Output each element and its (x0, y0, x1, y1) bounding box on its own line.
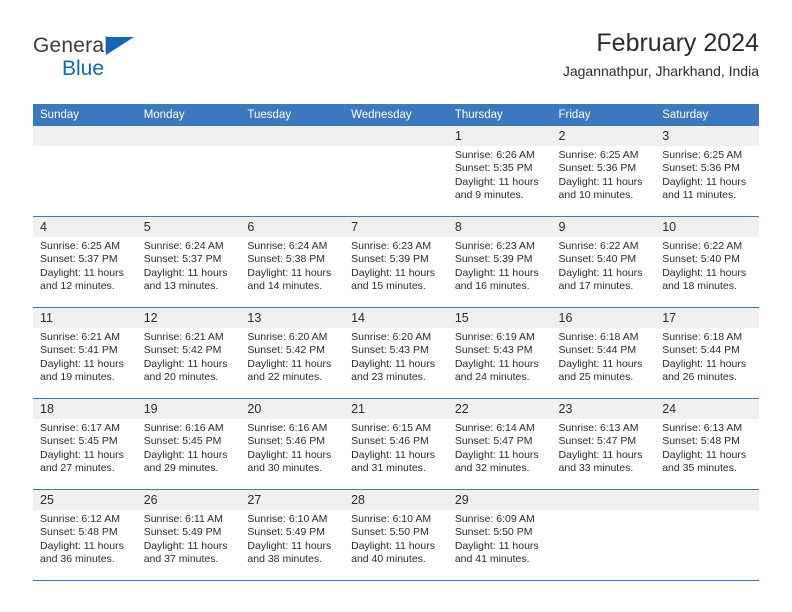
sunrise-time: Sunrise: 6:18 AM (662, 331, 753, 344)
daylight-duration-line1: Daylight: 11 hours (455, 449, 546, 462)
daylight-duration-line1: Daylight: 11 hours (662, 449, 753, 462)
calendar-day-cell[interactable]: 2Sunrise: 6:25 AMSunset: 5:36 PMDaylight… (552, 126, 656, 217)
day-cell-inner: 29Sunrise: 6:09 AMSunset: 5:50 PMDayligh… (448, 490, 552, 580)
sunset-time: Sunset: 5:37 PM (40, 253, 131, 266)
day-cell-inner: 25Sunrise: 6:12 AMSunset: 5:48 PMDayligh… (33, 490, 137, 580)
page-header: General Blue February 2024 Jagannathpur,… (33, 28, 759, 94)
sunset-time: Sunset: 5:50 PM (455, 526, 546, 539)
day-cell-inner: 2Sunrise: 6:25 AMSunset: 5:36 PMDaylight… (552, 126, 656, 216)
sunset-time: Sunset: 5:48 PM (662, 435, 753, 448)
day-cell-inner: 17Sunrise: 6:18 AMSunset: 5:44 PMDayligh… (655, 308, 759, 398)
calendar-day-cell[interactable]: 25Sunrise: 6:12 AMSunset: 5:48 PMDayligh… (33, 490, 137, 581)
day-sun-info: Sunrise: 6:15 AMSunset: 5:46 PMDaylight:… (344, 419, 448, 475)
daylight-duration-line2: and 33 minutes. (559, 462, 650, 475)
sunset-time: Sunset: 5:48 PM (40, 526, 131, 539)
daylight-duration-line2: and 35 minutes. (662, 462, 753, 475)
day-cell-inner (344, 126, 448, 216)
sunset-time: Sunset: 5:43 PM (351, 344, 442, 357)
sunset-time: Sunset: 5:45 PM (144, 435, 235, 448)
day-sun-info: Sunrise: 6:21 AMSunset: 5:41 PMDaylight:… (33, 328, 137, 384)
daylight-duration-line2: and 10 minutes. (559, 189, 650, 202)
calendar-day-cell[interactable]: 17Sunrise: 6:18 AMSunset: 5:44 PMDayligh… (655, 308, 759, 399)
calendar-cell-empty (240, 126, 344, 217)
daylight-duration-line2: and 17 minutes. (559, 280, 650, 293)
sunrise-sunset-calendar: Sunday Monday Tuesday Wednesday Thursday… (33, 104, 759, 581)
daylight-duration-line2: and 36 minutes. (40, 553, 131, 566)
day-cell-inner: 16Sunrise: 6:18 AMSunset: 5:44 PMDayligh… (552, 308, 656, 398)
daylight-duration-line2: and 12 minutes. (40, 280, 131, 293)
daylight-duration-line1: Daylight: 11 hours (455, 267, 546, 280)
daylight-duration-line1: Daylight: 11 hours (559, 267, 650, 280)
day-cell-inner: 4Sunrise: 6:25 AMSunset: 5:37 PMDaylight… (33, 217, 137, 307)
calendar-cell-empty (137, 126, 241, 217)
calendar-day-cell[interactable]: 1Sunrise: 6:26 AMSunset: 5:35 PMDaylight… (448, 126, 552, 217)
calendar-page: General Blue February 2024 Jagannathpur,… (0, 0, 792, 612)
sunrise-time: Sunrise: 6:21 AM (40, 331, 131, 344)
calendar-day-cell[interactable]: 12Sunrise: 6:21 AMSunset: 5:42 PMDayligh… (137, 308, 241, 399)
day-number: 12 (137, 308, 241, 328)
weekday-header-thursday: Thursday (448, 104, 552, 126)
sunrise-time: Sunrise: 6:20 AM (247, 331, 338, 344)
calendar-day-cell[interactable]: 5Sunrise: 6:24 AMSunset: 5:37 PMDaylight… (137, 217, 241, 308)
day-number: 26 (137, 490, 241, 510)
day-number: 7 (344, 217, 448, 237)
sunset-time: Sunset: 5:46 PM (247, 435, 338, 448)
day-number: 5 (137, 217, 241, 237)
sunrise-time: Sunrise: 6:10 AM (247, 513, 338, 526)
day-number: 20 (240, 399, 344, 419)
daylight-duration-line2: and 9 minutes. (455, 189, 546, 202)
daylight-duration-line1: Daylight: 11 hours (351, 540, 442, 553)
day-number: 24 (655, 399, 759, 419)
daylight-duration-line2: and 11 minutes. (662, 189, 753, 202)
day-cell-inner: 22Sunrise: 6:14 AMSunset: 5:47 PMDayligh… (448, 399, 552, 489)
calendar-day-cell[interactable]: 14Sunrise: 6:20 AMSunset: 5:43 PMDayligh… (344, 308, 448, 399)
day-sun-info: Sunrise: 6:16 AMSunset: 5:45 PMDaylight:… (137, 419, 241, 475)
day-sun-info: Sunrise: 6:10 AMSunset: 5:50 PMDaylight:… (344, 510, 448, 566)
day-sun-info: Sunrise: 6:16 AMSunset: 5:46 PMDaylight:… (240, 419, 344, 475)
day-sun-info: Sunrise: 6:18 AMSunset: 5:44 PMDaylight:… (552, 328, 656, 384)
daylight-duration-line2: and 38 minutes. (247, 553, 338, 566)
sunrise-time: Sunrise: 6:24 AM (247, 240, 338, 253)
sunrise-time: Sunrise: 6:26 AM (455, 149, 546, 162)
day-sun-info: Sunrise: 6:12 AMSunset: 5:48 PMDaylight:… (33, 510, 137, 566)
day-number: 13 (240, 308, 344, 328)
day-sun-info: Sunrise: 6:24 AMSunset: 5:38 PMDaylight:… (240, 237, 344, 293)
day-number: 6 (240, 217, 344, 237)
calendar-cell-empty (33, 126, 137, 217)
day-cell-inner: 14Sunrise: 6:20 AMSunset: 5:43 PMDayligh… (344, 308, 448, 398)
day-cell-inner (655, 490, 759, 580)
sunrise-time: Sunrise: 6:22 AM (559, 240, 650, 253)
calendar-day-cell[interactable]: 24Sunrise: 6:13 AMSunset: 5:48 PMDayligh… (655, 399, 759, 490)
day-cell-inner: 3Sunrise: 6:25 AMSunset: 5:36 PMDaylight… (655, 126, 759, 216)
day-sun-info: Sunrise: 6:23 AMSunset: 5:39 PMDaylight:… (344, 237, 448, 293)
brand-name-blue: Blue (62, 57, 104, 81)
daylight-duration-line2: and 18 minutes. (662, 280, 753, 293)
day-sun-info: Sunrise: 6:22 AMSunset: 5:40 PMDaylight:… (552, 237, 656, 293)
sunset-time: Sunset: 5:47 PM (559, 435, 650, 448)
day-sun-info: Sunrise: 6:24 AMSunset: 5:37 PMDaylight:… (137, 237, 241, 293)
sunset-time: Sunset: 5:38 PM (247, 253, 338, 266)
day-sun-info: Sunrise: 6:14 AMSunset: 5:47 PMDaylight:… (448, 419, 552, 475)
daylight-duration-line1: Daylight: 11 hours (144, 540, 235, 553)
sunrise-time: Sunrise: 6:15 AM (351, 422, 442, 435)
daylight-duration-line2: and 26 minutes. (662, 371, 753, 384)
sunset-time: Sunset: 5:40 PM (662, 253, 753, 266)
day-sun-info: Sunrise: 6:25 AMSunset: 5:36 PMDaylight:… (552, 146, 656, 202)
day-number: 18 (33, 399, 137, 419)
day-number: 11 (33, 308, 137, 328)
day-sun-info: Sunrise: 6:25 AMSunset: 5:37 PMDaylight:… (33, 237, 137, 293)
day-number (552, 490, 656, 510)
day-number: 28 (344, 490, 448, 510)
sunrise-time: Sunrise: 6:10 AM (351, 513, 442, 526)
daylight-duration-line2: and 23 minutes. (351, 371, 442, 384)
daylight-duration-line1: Daylight: 11 hours (559, 449, 650, 462)
daylight-duration-line2: and 22 minutes. (247, 371, 338, 384)
daylight-duration-line1: Daylight: 11 hours (559, 358, 650, 371)
daylight-duration-line2: and 32 minutes. (455, 462, 546, 475)
sunrise-time: Sunrise: 6:18 AM (559, 331, 650, 344)
day-number: 22 (448, 399, 552, 419)
calendar-cell-empty (655, 490, 759, 581)
title-block: February 2024 Jagannathpur, Jharkhand, I… (563, 28, 759, 80)
day-number: 4 (33, 217, 137, 237)
sunrise-time: Sunrise: 6:14 AM (455, 422, 546, 435)
weekday-header-friday: Friday (552, 104, 656, 126)
daylight-duration-line2: and 27 minutes. (40, 462, 131, 475)
sunset-time: Sunset: 5:42 PM (144, 344, 235, 357)
day-number: 27 (240, 490, 344, 510)
day-sun-info: Sunrise: 6:10 AMSunset: 5:49 PMDaylight:… (240, 510, 344, 566)
sunrise-time: Sunrise: 6:17 AM (40, 422, 131, 435)
daylight-duration-line1: Daylight: 11 hours (144, 449, 235, 462)
sunrise-time: Sunrise: 6:16 AM (144, 422, 235, 435)
calendar-day-cell[interactable]: 8Sunrise: 6:23 AMSunset: 5:39 PMDaylight… (448, 217, 552, 308)
calendar-day-cell[interactable]: 22Sunrise: 6:14 AMSunset: 5:47 PMDayligh… (448, 399, 552, 490)
day-number: 15 (448, 308, 552, 328)
sunset-time: Sunset: 5:49 PM (247, 526, 338, 539)
calendar-day-cell[interactable]: 26Sunrise: 6:11 AMSunset: 5:49 PMDayligh… (137, 490, 241, 581)
sunset-time: Sunset: 5:39 PM (351, 253, 442, 266)
daylight-duration-line1: Daylight: 11 hours (144, 358, 235, 371)
sunset-time: Sunset: 5:36 PM (662, 162, 753, 175)
day-cell-inner: 20Sunrise: 6:16 AMSunset: 5:46 PMDayligh… (240, 399, 344, 489)
daylight-duration-line1: Daylight: 11 hours (351, 358, 442, 371)
brand-name-general: General (33, 34, 109, 58)
sunset-time: Sunset: 5:45 PM (40, 435, 131, 448)
daylight-duration-line2: and 19 minutes. (40, 371, 131, 384)
sunrise-time: Sunrise: 6:25 AM (559, 149, 650, 162)
calendar-day-cell[interactable]: 11Sunrise: 6:21 AMSunset: 5:41 PMDayligh… (33, 308, 137, 399)
day-cell-inner (33, 126, 137, 216)
weekday-header-wednesday: Wednesday (344, 104, 448, 126)
daylight-duration-line1: Daylight: 11 hours (455, 540, 546, 553)
daylight-duration-line2: and 20 minutes. (144, 371, 235, 384)
day-number: 10 (655, 217, 759, 237)
sunrise-time: Sunrise: 6:23 AM (455, 240, 546, 253)
daylight-duration-line1: Daylight: 11 hours (40, 449, 131, 462)
weekday-header-monday: Monday (137, 104, 241, 126)
daylight-duration-line1: Daylight: 11 hours (40, 540, 131, 553)
calendar-week-row: 18Sunrise: 6:17 AMSunset: 5:45 PMDayligh… (33, 399, 759, 490)
day-cell-inner (137, 126, 241, 216)
calendar-week-row: 11Sunrise: 6:21 AMSunset: 5:41 PMDayligh… (33, 308, 759, 399)
day-cell-inner: 19Sunrise: 6:16 AMSunset: 5:45 PMDayligh… (137, 399, 241, 489)
day-number (33, 126, 137, 146)
calendar-day-cell[interactable]: 21Sunrise: 6:15 AMSunset: 5:46 PMDayligh… (344, 399, 448, 490)
day-number: 23 (552, 399, 656, 419)
daylight-duration-line1: Daylight: 11 hours (662, 267, 753, 280)
triangle-icon (106, 37, 134, 55)
day-number: 16 (552, 308, 656, 328)
day-cell-inner: 10Sunrise: 6:22 AMSunset: 5:40 PMDayligh… (655, 217, 759, 307)
daylight-duration-line1: Daylight: 11 hours (351, 449, 442, 462)
daylight-duration-line2: and 41 minutes. (455, 553, 546, 566)
daylight-duration-line2: and 37 minutes. (144, 553, 235, 566)
sunset-time: Sunset: 5:36 PM (559, 162, 650, 175)
calendar-day-cell[interactable]: 29Sunrise: 6:09 AMSunset: 5:50 PMDayligh… (448, 490, 552, 581)
calendar-day-cell[interactable]: 20Sunrise: 6:16 AMSunset: 5:46 PMDayligh… (240, 399, 344, 490)
day-cell-inner: 11Sunrise: 6:21 AMSunset: 5:41 PMDayligh… (33, 308, 137, 398)
daylight-duration-line2: and 16 minutes. (455, 280, 546, 293)
calendar-day-cell[interactable]: 7Sunrise: 6:23 AMSunset: 5:39 PMDaylight… (344, 217, 448, 308)
day-number (137, 126, 241, 146)
day-number: 17 (655, 308, 759, 328)
calendar-cell-empty (344, 126, 448, 217)
daylight-duration-line2: and 25 minutes. (559, 371, 650, 384)
calendar-day-cell[interactable]: 28Sunrise: 6:10 AMSunset: 5:50 PMDayligh… (344, 490, 448, 581)
day-cell-inner: 9Sunrise: 6:22 AMSunset: 5:40 PMDaylight… (552, 217, 656, 307)
day-sun-info: Sunrise: 6:19 AMSunset: 5:43 PMDaylight:… (448, 328, 552, 384)
day-cell-inner: 5Sunrise: 6:24 AMSunset: 5:37 PMDaylight… (137, 217, 241, 307)
daylight-duration-line1: Daylight: 11 hours (662, 176, 753, 189)
day-cell-inner: 8Sunrise: 6:23 AMSunset: 5:39 PMDaylight… (448, 217, 552, 307)
day-cell-inner (240, 126, 344, 216)
day-sun-info: Sunrise: 6:13 AMSunset: 5:47 PMDaylight:… (552, 419, 656, 475)
day-sun-info: Sunrise: 6:23 AMSunset: 5:39 PMDaylight:… (448, 237, 552, 293)
day-sun-info: Sunrise: 6:09 AMSunset: 5:50 PMDaylight:… (448, 510, 552, 566)
daylight-duration-line2: and 40 minutes. (351, 553, 442, 566)
sunrise-time: Sunrise: 6:12 AM (40, 513, 131, 526)
calendar-day-cell[interactable]: 27Sunrise: 6:10 AMSunset: 5:49 PMDayligh… (240, 490, 344, 581)
page-subtitle: Jagannathpur, Jharkhand, India (563, 63, 759, 80)
sunrise-time: Sunrise: 6:23 AM (351, 240, 442, 253)
sunset-time: Sunset: 5:40 PM (559, 253, 650, 266)
daylight-duration-line2: and 31 minutes. (351, 462, 442, 475)
day-sun-info: Sunrise: 6:26 AMSunset: 5:35 PMDaylight:… (448, 146, 552, 202)
sunrise-time: Sunrise: 6:11 AM (144, 513, 235, 526)
day-number: 21 (344, 399, 448, 419)
daylight-duration-line2: and 30 minutes. (247, 462, 338, 475)
weekday-header-row: Sunday Monday Tuesday Wednesday Thursday… (33, 104, 759, 126)
sunset-time: Sunset: 5:35 PM (455, 162, 546, 175)
sunset-time: Sunset: 5:41 PM (40, 344, 131, 357)
daylight-duration-line2: and 15 minutes. (351, 280, 442, 293)
daylight-duration-line1: Daylight: 11 hours (247, 449, 338, 462)
daylight-duration-line1: Daylight: 11 hours (662, 358, 753, 371)
sunset-time: Sunset: 5:49 PM (144, 526, 235, 539)
day-sun-info: Sunrise: 6:18 AMSunset: 5:44 PMDaylight:… (655, 328, 759, 384)
day-cell-inner: 12Sunrise: 6:21 AMSunset: 5:42 PMDayligh… (137, 308, 241, 398)
weekday-header-saturday: Saturday (655, 104, 759, 126)
sunrise-time: Sunrise: 6:13 AM (559, 422, 650, 435)
sunset-time: Sunset: 5:46 PM (351, 435, 442, 448)
daylight-duration-line2: and 24 minutes. (455, 371, 546, 384)
sunrise-time: Sunrise: 6:21 AM (144, 331, 235, 344)
day-number: 29 (448, 490, 552, 510)
sunset-time: Sunset: 5:47 PM (455, 435, 546, 448)
calendar-week-row: 25Sunrise: 6:12 AMSunset: 5:48 PMDayligh… (33, 490, 759, 581)
calendar-day-cell[interactable]: 19Sunrise: 6:16 AMSunset: 5:45 PMDayligh… (137, 399, 241, 490)
daylight-duration-line1: Daylight: 11 hours (247, 358, 338, 371)
sunrise-time: Sunrise: 6:19 AM (455, 331, 546, 344)
day-cell-inner: 15Sunrise: 6:19 AMSunset: 5:43 PMDayligh… (448, 308, 552, 398)
daylight-duration-line1: Daylight: 11 hours (351, 267, 442, 280)
day-number: 25 (33, 490, 137, 510)
day-number (655, 490, 759, 510)
calendar-day-cell[interactable]: 13Sunrise: 6:20 AMSunset: 5:42 PMDayligh… (240, 308, 344, 399)
day-sun-info: Sunrise: 6:20 AMSunset: 5:43 PMDaylight:… (344, 328, 448, 384)
daylight-duration-line1: Daylight: 11 hours (40, 267, 131, 280)
day-sun-info: Sunrise: 6:17 AMSunset: 5:45 PMDaylight:… (33, 419, 137, 475)
daylight-duration-line1: Daylight: 11 hours (144, 267, 235, 280)
weekday-header-tuesday: Tuesday (240, 104, 344, 126)
day-number: 14 (344, 308, 448, 328)
day-cell-inner: 27Sunrise: 6:10 AMSunset: 5:49 PMDayligh… (240, 490, 344, 580)
day-number: 1 (448, 126, 552, 146)
day-sun-info: Sunrise: 6:20 AMSunset: 5:42 PMDaylight:… (240, 328, 344, 384)
calendar-day-cell[interactable]: 9Sunrise: 6:22 AMSunset: 5:40 PMDaylight… (552, 217, 656, 308)
day-cell-inner: 26Sunrise: 6:11 AMSunset: 5:49 PMDayligh… (137, 490, 241, 580)
day-cell-inner: 1Sunrise: 6:26 AMSunset: 5:35 PMDaylight… (448, 126, 552, 216)
daylight-duration-line1: Daylight: 11 hours (455, 358, 546, 371)
sunrise-time: Sunrise: 6:16 AM (247, 422, 338, 435)
day-number: 9 (552, 217, 656, 237)
sunrise-time: Sunrise: 6:25 AM (662, 149, 753, 162)
sunset-time: Sunset: 5:50 PM (351, 526, 442, 539)
day-cell-inner: 18Sunrise: 6:17 AMSunset: 5:45 PMDayligh… (33, 399, 137, 489)
sunset-time: Sunset: 5:39 PM (455, 253, 546, 266)
calendar-day-cell[interactable]: 18Sunrise: 6:17 AMSunset: 5:45 PMDayligh… (33, 399, 137, 490)
day-number: 3 (655, 126, 759, 146)
sunset-time: Sunset: 5:37 PM (144, 253, 235, 266)
calendar-day-cell[interactable]: 4Sunrise: 6:25 AMSunset: 5:37 PMDaylight… (33, 217, 137, 308)
day-cell-inner (552, 490, 656, 580)
calendar-body: 1Sunrise: 6:26 AMSunset: 5:35 PMDaylight… (33, 126, 759, 581)
general-blue-logo[interactable]: General Blue (33, 34, 233, 90)
daylight-duration-line2: and 29 minutes. (144, 462, 235, 475)
day-sun-info: Sunrise: 6:22 AMSunset: 5:40 PMDaylight:… (655, 237, 759, 293)
daylight-duration-line1: Daylight: 11 hours (247, 540, 338, 553)
day-sun-info: Sunrise: 6:11 AMSunset: 5:49 PMDaylight:… (137, 510, 241, 566)
day-number (344, 126, 448, 146)
sunset-time: Sunset: 5:44 PM (559, 344, 650, 357)
sunset-time: Sunset: 5:42 PM (247, 344, 338, 357)
day-sun-info: Sunrise: 6:25 AMSunset: 5:36 PMDaylight:… (655, 146, 759, 202)
day-cell-inner: 21Sunrise: 6:15 AMSunset: 5:46 PMDayligh… (344, 399, 448, 489)
sunset-time: Sunset: 5:43 PM (455, 344, 546, 357)
calendar-day-cell[interactable]: 23Sunrise: 6:13 AMSunset: 5:47 PMDayligh… (552, 399, 656, 490)
sunrise-time: Sunrise: 6:20 AM (351, 331, 442, 344)
calendar-day-cell[interactable]: 3Sunrise: 6:25 AMSunset: 5:36 PMDaylight… (655, 126, 759, 217)
day-sun-info: Sunrise: 6:13 AMSunset: 5:48 PMDaylight:… (655, 419, 759, 475)
daylight-duration-line1: Daylight: 11 hours (455, 176, 546, 189)
day-cell-inner: 6Sunrise: 6:24 AMSunset: 5:38 PMDaylight… (240, 217, 344, 307)
calendar-day-cell[interactable]: 10Sunrise: 6:22 AMSunset: 5:40 PMDayligh… (655, 217, 759, 308)
sunrise-time: Sunrise: 6:25 AM (40, 240, 131, 253)
page-title: February 2024 (563, 28, 759, 58)
calendar-cell-empty (552, 490, 656, 581)
day-sun-info: Sunrise: 6:21 AMSunset: 5:42 PMDaylight:… (137, 328, 241, 384)
sunrise-time: Sunrise: 6:13 AM (662, 422, 753, 435)
sunrise-time: Sunrise: 6:24 AM (144, 240, 235, 253)
daylight-duration-line1: Daylight: 11 hours (559, 176, 650, 189)
sunrise-time: Sunrise: 6:09 AM (455, 513, 546, 526)
daylight-duration-line1: Daylight: 11 hours (40, 358, 131, 371)
day-number: 8 (448, 217, 552, 237)
calendar-day-cell[interactable]: 15Sunrise: 6:19 AMSunset: 5:43 PMDayligh… (448, 308, 552, 399)
daylight-duration-line1: Daylight: 11 hours (247, 267, 338, 280)
day-cell-inner: 13Sunrise: 6:20 AMSunset: 5:42 PMDayligh… (240, 308, 344, 398)
calendar-week-row: 4Sunrise: 6:25 AMSunset: 5:37 PMDaylight… (33, 217, 759, 308)
day-cell-inner: 24Sunrise: 6:13 AMSunset: 5:48 PMDayligh… (655, 399, 759, 489)
day-number (240, 126, 344, 146)
weekday-header-sunday: Sunday (33, 104, 137, 126)
sunrise-time: Sunrise: 6:22 AM (662, 240, 753, 253)
day-cell-inner: 23Sunrise: 6:13 AMSunset: 5:47 PMDayligh… (552, 399, 656, 489)
day-cell-inner: 7Sunrise: 6:23 AMSunset: 5:39 PMDaylight… (344, 217, 448, 307)
day-number: 19 (137, 399, 241, 419)
calendar-week-row: 1Sunrise: 6:26 AMSunset: 5:35 PMDaylight… (33, 126, 759, 217)
day-number: 2 (552, 126, 656, 146)
daylight-duration-line2: and 14 minutes. (247, 280, 338, 293)
sunset-time: Sunset: 5:44 PM (662, 344, 753, 357)
daylight-duration-line2: and 13 minutes. (144, 280, 235, 293)
calendar-day-cell[interactable]: 16Sunrise: 6:18 AMSunset: 5:44 PMDayligh… (552, 308, 656, 399)
calendar-day-cell[interactable]: 6Sunrise: 6:24 AMSunset: 5:38 PMDaylight… (240, 217, 344, 308)
day-cell-inner: 28Sunrise: 6:10 AMSunset: 5:50 PMDayligh… (344, 490, 448, 580)
